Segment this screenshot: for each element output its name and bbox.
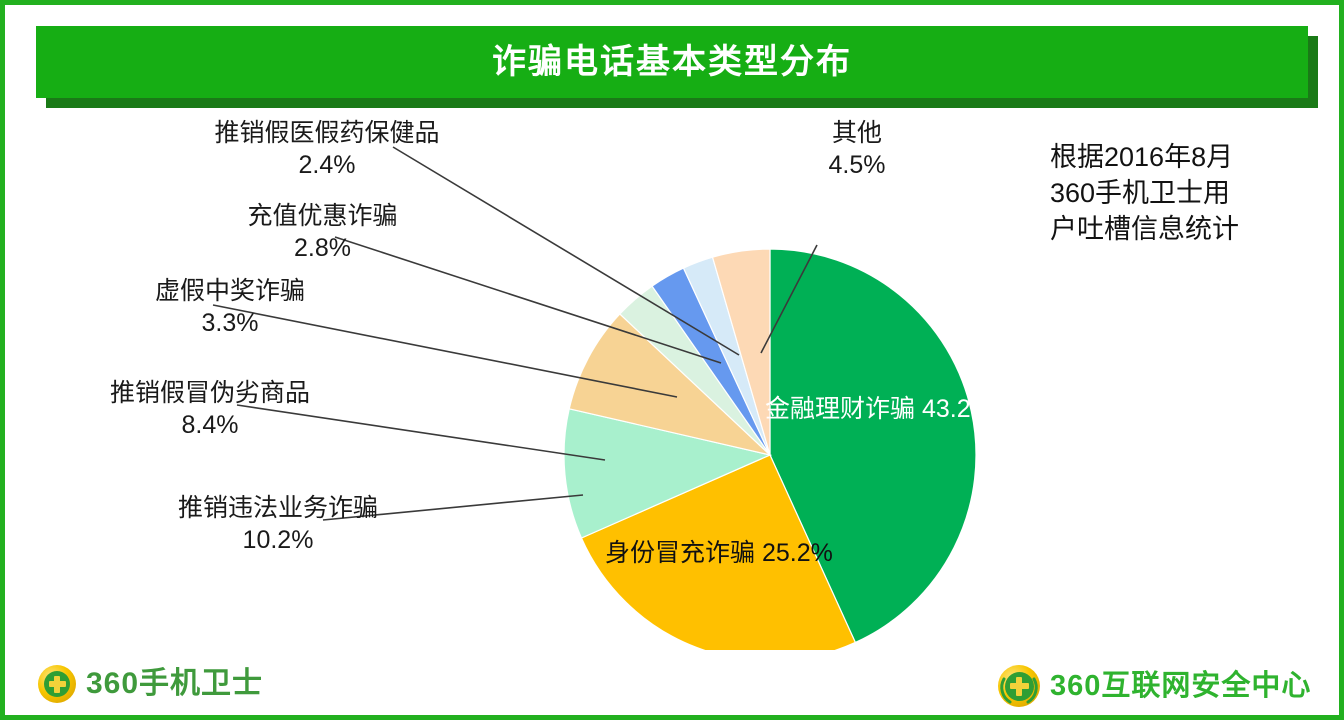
callout-value: 10.2% <box>133 524 423 556</box>
callout-counterfeit-goods: 推销假冒伪劣商品 8.4% <box>65 377 355 441</box>
callout-label: 虚假中奖诈骗 <box>110 275 350 307</box>
source-note: 根据2016年8月 360手机卫士用 户吐槽信息统计 <box>1050 140 1300 248</box>
callout-value: 2.4% <box>177 149 477 181</box>
slice-label-value: 25.2% <box>762 539 833 567</box>
pie-slice-group <box>564 249 976 650</box>
footer-logo-security-center: 360互联网安全中心 <box>998 665 1311 707</box>
callout-value: 4.5% <box>762 149 952 181</box>
callout-label: 推销假医假药保健品 <box>177 117 477 149</box>
callout-label: 推销假冒伪劣商品 <box>65 377 355 409</box>
callout-fake-prize: 虚假中奖诈骗 3.3% <box>110 275 350 339</box>
footer-logo-left-text: 360手机卫士 <box>86 669 263 699</box>
source-note-line-2: 360手机卫士用 <box>1050 176 1300 212</box>
slide-root: 诈骗电话基本类型分布 推销假医假药保健品 2.4% <box>0 0 1344 720</box>
callout-illegal-business: 推销违法业务诈骗 10.2% <box>133 492 423 556</box>
footer-logo-right-text: 360互联网安全中心 <box>1050 672 1311 701</box>
slice-label-text: 身份冒充诈骗 <box>605 539 755 567</box>
callout-value: 2.8% <box>200 232 445 264</box>
callout-topup-discount: 充值优惠诈骗 2.8% <box>200 200 445 264</box>
source-note-line-3: 户吐槽信息统计 <box>1050 212 1300 248</box>
callout-label: 充值优惠诈骗 <box>200 200 445 232</box>
callout-value: 8.4% <box>65 409 355 441</box>
callout-label: 其他 <box>762 117 952 149</box>
source-note-line-1: 根据2016年8月 <box>1050 140 1300 176</box>
callout-label: 推销违法业务诈骗 <box>133 492 423 524</box>
slice-label-finance-fraud: 金融理财诈骗 43.2% <box>765 393 990 427</box>
title-bar: 诈骗电话基本类型分布 <box>36 26 1308 98</box>
laurel-shield-icon <box>998 665 1040 707</box>
callout-value: 3.3% <box>110 307 350 339</box>
slice-label-value: 43.2% <box>922 395 993 423</box>
callout-other: 其他 4.5% <box>762 117 952 181</box>
slice-label-text: 金融理财诈骗 <box>765 395 915 423</box>
footer-logo-mobile-guard: 360手机卫士 <box>38 665 263 703</box>
slice-label-identity-fraud: 身份冒充诈骗 25.2% <box>605 537 830 571</box>
page-title: 诈骗电话基本类型分布 <box>492 45 852 79</box>
shield-cross-icon <box>38 665 76 703</box>
callout-fake-medicine: 推销假医假药保健品 2.4% <box>177 117 477 181</box>
